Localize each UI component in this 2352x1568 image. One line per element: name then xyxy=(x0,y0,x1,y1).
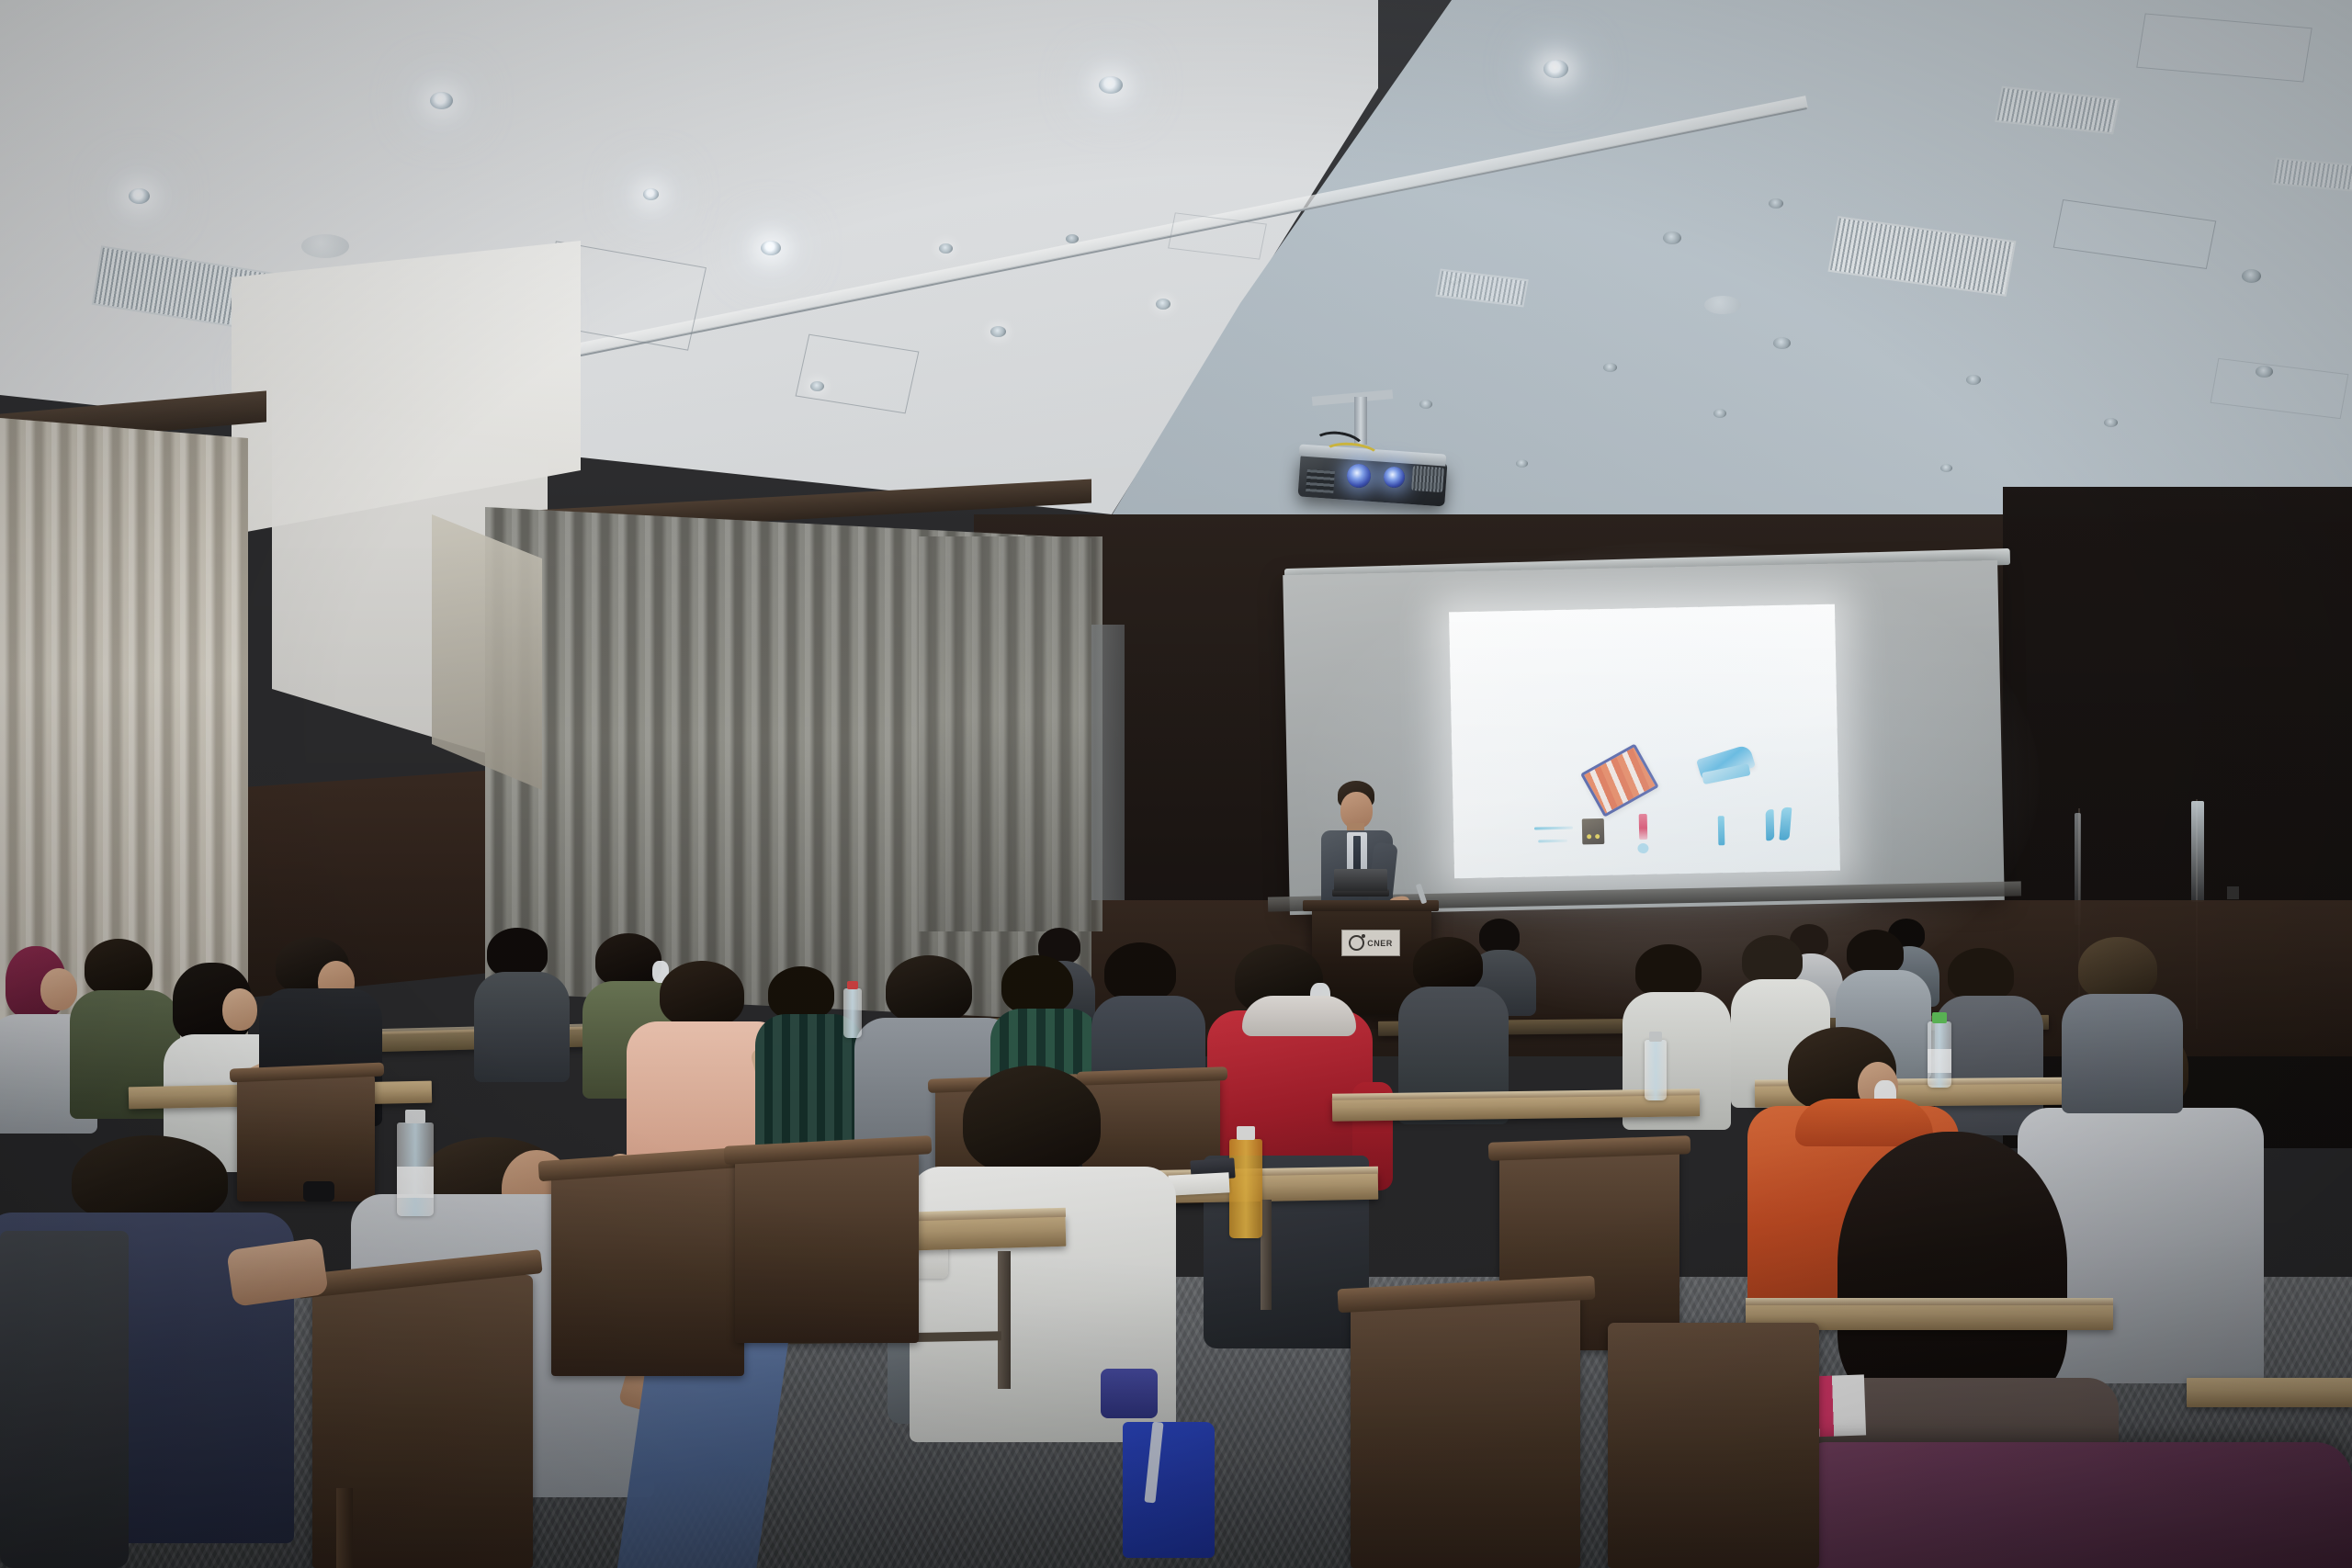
bottle-cap xyxy=(1649,1032,1662,1042)
slide-graphic-line xyxy=(1534,827,1573,830)
podium-sign-text: CNER xyxy=(1367,939,1393,948)
wall-angle-panel xyxy=(432,514,542,790)
slide-graphic-dot xyxy=(1637,843,1648,853)
slide-graphic-cyan-hook xyxy=(1766,809,1775,840)
ceiling-downlight xyxy=(1543,60,1568,78)
podium-logo-icon xyxy=(1349,935,1364,951)
sleeve-cuff xyxy=(1101,1369,1158,1418)
ceiling-downlight xyxy=(1663,231,1681,244)
chair-foreground-right xyxy=(1608,1323,1819,1568)
slide-graphic-dark-module xyxy=(1582,818,1605,844)
jacket-on-chair-left xyxy=(0,1231,129,1568)
bottle-label xyxy=(397,1167,434,1198)
long-hair xyxy=(1837,1132,2067,1407)
handout-paper xyxy=(1168,1172,1229,1195)
ceiling-speaker xyxy=(301,234,349,258)
ceiling-downlight xyxy=(1940,464,1952,472)
bottle-cap xyxy=(847,981,858,989)
wall-outlet xyxy=(2227,886,2239,899)
ceiling-downlight xyxy=(1966,375,1981,385)
slide-graphic-orange-fan xyxy=(1580,743,1659,817)
ceiling-downlight xyxy=(939,243,953,254)
projector-lens xyxy=(1347,464,1371,488)
wall-column xyxy=(1091,625,1125,900)
water-bottle xyxy=(1928,1021,1951,1088)
plum-coat-on-chair xyxy=(1801,1442,2352,1568)
bottle-cap xyxy=(1237,1126,1255,1140)
water-bottle xyxy=(843,988,862,1038)
ceiling-downlight xyxy=(430,92,453,109)
bottle-cap xyxy=(405,1110,425,1123)
ceiling-downlight xyxy=(643,188,659,200)
ceiling-downlight xyxy=(2104,418,2118,427)
ceiling-downlight xyxy=(1419,400,1432,409)
blue-bag xyxy=(1123,1422,1215,1558)
ceiling-downlight xyxy=(1099,76,1123,94)
hoodie-hood xyxy=(1242,996,1356,1036)
ceiling-downlight xyxy=(2242,269,2261,283)
chair-foreground-right xyxy=(1351,1295,1580,1568)
ceiling-downlight xyxy=(1516,459,1528,468)
slide-graphic-cyan-hook xyxy=(1779,807,1792,840)
projector-control-keys xyxy=(1306,469,1335,493)
tea-bottle xyxy=(1229,1139,1262,1238)
bottle-cap xyxy=(1932,1012,1947,1023)
ceiling-downlight xyxy=(1603,363,1617,372)
projected-slide xyxy=(1449,604,1840,879)
wall-light-strip xyxy=(2191,801,2204,902)
water-bottle xyxy=(397,1122,434,1216)
slide-graphic-cyan-bar xyxy=(1718,816,1725,845)
ceiling-downlight xyxy=(1769,198,1783,209)
bottle-label xyxy=(1928,1049,1951,1073)
ceiling-downlight xyxy=(129,188,150,204)
table-edge xyxy=(1746,1298,2113,1305)
podium-laptop-lid xyxy=(1334,869,1387,891)
conference-room-photo: CNER xyxy=(0,0,2352,1568)
ceiling-downlight xyxy=(1713,409,1726,418)
ceiling-downlight xyxy=(1156,299,1170,310)
wristwatch xyxy=(303,1181,334,1201)
ceiling-downlight xyxy=(1773,337,1791,349)
water-bottle xyxy=(1645,1040,1667,1100)
ceiling-downlight xyxy=(761,241,781,255)
ceiling-downlight xyxy=(1066,234,1079,243)
slide-graphic-red-bar xyxy=(1639,814,1648,840)
projector-lens xyxy=(1384,467,1405,488)
ceiling-downlight xyxy=(990,326,1006,337)
podium-logo-sign: CNER xyxy=(1341,930,1400,956)
slide-graphic-line xyxy=(1538,840,1567,843)
table-leg xyxy=(998,1251,1011,1389)
stage-curtain-back-right xyxy=(919,536,1102,931)
ceiling-speaker xyxy=(1704,296,1741,314)
chair xyxy=(551,1165,744,1376)
chair xyxy=(735,1150,919,1343)
chair-leg xyxy=(336,1488,353,1568)
table-row-front-right xyxy=(2187,1378,2352,1407)
podium-top-surface xyxy=(1303,900,1439,911)
projector-vent-grille xyxy=(1411,466,1444,492)
